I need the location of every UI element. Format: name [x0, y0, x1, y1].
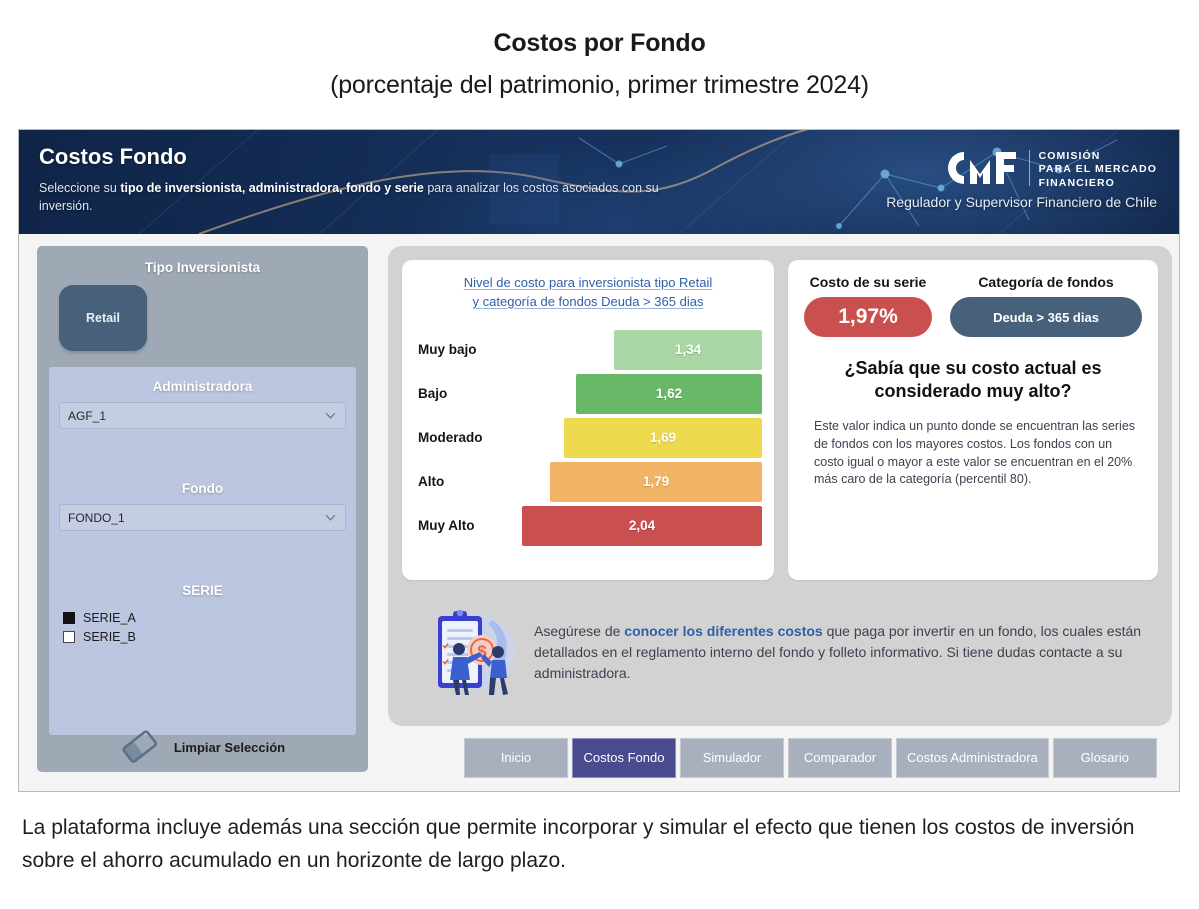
checkbox-icon[interactable] — [63, 631, 75, 643]
serie-checkbox-row[interactable]: SERIE_B — [63, 630, 346, 644]
tab-comparador[interactable]: Comparador — [788, 738, 892, 778]
clear-selection-label: Limpiar Selección — [174, 740, 285, 755]
result-question: ¿Sabía que su costo actual es considerad… — [810, 357, 1136, 402]
serie-label: SERIE_A — [83, 611, 136, 625]
category-badge-title: Categoría de fondos — [950, 274, 1142, 290]
fondo-heading: Fondo — [59, 477, 346, 504]
app-window: Costos Fondo Seleccione su tipo de inver… — [18, 129, 1180, 792]
investor-type-heading: Tipo Inversionista — [49, 256, 356, 283]
funnel-track: 1,62 — [522, 374, 762, 414]
logo-line-1: COMISIÓN — [1039, 150, 1157, 163]
logo-line-3: FINANCIERO — [1039, 177, 1157, 190]
funnel-track: 1,69 — [522, 418, 762, 458]
page-header: Costos por Fondo (porcentaje del patrimo… — [0, 0, 1199, 99]
main-content: Nivel de costo para inversionista tipo R… — [382, 234, 1180, 792]
funnel-category-label: Moderado — [414, 430, 522, 445]
administradora-select[interactable]: AGF_1 — [59, 402, 346, 429]
funnel-rows: Muy bajo 1,34 Bajo 1,62 — [414, 328, 762, 548]
funnel-track: 1,79 — [522, 462, 762, 502]
funnel-track: 2,04 — [522, 506, 762, 546]
app-header-subtitle: Seleccione su tipo de inversionista, adm… — [39, 179, 679, 215]
fondo-select[interactable]: FONDO_1 — [59, 504, 346, 531]
cost-badge-group: Costo de su serie 1,97% — [804, 274, 932, 337]
filter-spacer — [59, 531, 346, 579]
logo-tagline: Regulador y Supervisor Financiero de Chi… — [886, 194, 1157, 210]
funnel-title-line-1: Nivel de costo para inversionista tipo R… — [464, 275, 713, 290]
funnel-category-label: Alto — [414, 474, 522, 489]
administradora-heading: Administradora — [59, 375, 346, 402]
funnel-row: Muy Alto 2,04 — [414, 504, 762, 548]
banner-bold: conocer los diferentes costos — [624, 623, 822, 639]
app-header-title: Costos Fondo — [39, 144, 187, 170]
administradora-value: AGF_1 — [68, 409, 106, 423]
content-container: Nivel de costo para inversionista tipo R… — [388, 246, 1172, 726]
cost-value-badge: 1,97% — [804, 297, 932, 337]
logo-line-2: PARA EL MERCADO — [1039, 163, 1157, 176]
serie-label: SERIE_B — [83, 630, 136, 644]
page-title: Costos por Fondo — [0, 30, 1199, 58]
serie-checkbox-row[interactable]: SERIE_A — [63, 611, 346, 625]
page-subtitle: (porcentaje del patrimonio, primer trime… — [0, 72, 1199, 100]
advice-banner: $ Asegú — [402, 592, 1158, 712]
dropdown-filters-panel: Administradora AGF_1 Fondo FONDO_1 — [49, 367, 356, 735]
subtitle-bold: tipo de inversionista, administradora, f… — [120, 181, 424, 195]
funnel-bar: 1,69 — [564, 418, 762, 458]
cost-level-funnel-card: Nivel de costo para inversionista tipo R… — [402, 260, 774, 580]
funnel-bar: 1,62 — [576, 374, 762, 414]
funnel-bar: 2,04 — [522, 506, 762, 546]
tab-costos-fondo[interactable]: Costos Fondo — [572, 738, 676, 778]
logo-wordmark: COMISIÓN PARA EL MERCADO FINANCIERO — [1039, 148, 1157, 190]
filters-panel: Tipo Inversionista Retail Administradora… — [37, 246, 368, 772]
filters-sidebar: Tipo Inversionista Retail Administradora… — [19, 234, 382, 792]
fondo-value: FONDO_1 — [68, 511, 125, 525]
tab-inicio[interactable]: Inicio — [464, 738, 568, 778]
funnel-category-label: Muy Alto — [414, 518, 522, 533]
funnel-title-line-2: y categoría de fondos Deuda > 365 dias — [473, 294, 704, 309]
app-header-banner: Costos Fondo Seleccione su tipo de inver… — [19, 130, 1179, 234]
funnel-row: Alto 1,79 — [414, 460, 762, 504]
tab-costos-administradora[interactable]: Costos Administradora — [896, 738, 1049, 778]
chevron-down-icon — [324, 409, 337, 422]
cmf-logo-mark-icon — [944, 148, 1020, 188]
advice-banner-text: Asegúrese de conocer los diferentes cost… — [534, 621, 1142, 684]
clipboard-money-illustration-icon: $ — [420, 602, 520, 702]
tab-simulador[interactable]: Simulador — [680, 738, 784, 778]
funnel-track: 1,34 — [522, 330, 762, 370]
funnel-chart-title: Nivel de costo para inversionista tipo R… — [414, 274, 762, 312]
funnel-bar: 1,79 — [550, 462, 762, 502]
logo-divider — [1029, 150, 1030, 186]
funnel-row: Moderado 1,69 — [414, 416, 762, 460]
funnel-bar: 1,34 — [614, 330, 762, 370]
investor-type-retail-button[interactable]: Retail — [59, 285, 147, 351]
eraser-icon — [120, 730, 160, 764]
tab-glosario[interactable]: Glosario — [1053, 738, 1157, 778]
cost-badge-title: Costo de su serie — [804, 274, 932, 290]
category-value-badge: Deuda > 365 dias — [950, 297, 1142, 337]
funnel-row: Muy bajo 1,34 — [414, 328, 762, 372]
funnel-category-label: Muy bajo — [414, 342, 522, 357]
funnel-category-label: Bajo — [414, 386, 522, 401]
category-badge-group: Categoría de fondos Deuda > 365 dias — [950, 274, 1142, 337]
serie-heading: SERIE — [59, 579, 346, 606]
banner-prefix: Asegúrese de — [534, 623, 624, 639]
checkbox-icon[interactable] — [63, 612, 75, 624]
bottom-nav-tabs: Inicio Costos Fondo Simulador Comparador… — [388, 738, 1172, 778]
cost-result-card: Costo de su serie 1,97% Categoría de fon… — [788, 260, 1158, 580]
filter-spacer — [59, 429, 346, 477]
result-explanation: Este valor indica un punto donde se encu… — [814, 418, 1136, 489]
funnel-row: Bajo 1,62 — [414, 372, 762, 416]
clear-selection-button[interactable]: Limpiar Selección — [37, 730, 368, 764]
page-caption: La plataforma incluye además una sección… — [22, 812, 1152, 877]
cmf-logo: COMISIÓN PARA EL MERCADO FINANCIERO — [944, 148, 1157, 190]
app-body: Tipo Inversionista Retail Administradora… — [19, 234, 1179, 792]
subtitle-prefix: Seleccione su — [39, 181, 120, 195]
chevron-down-icon — [324, 511, 337, 524]
cards-row: Nivel de costo para inversionista tipo R… — [402, 260, 1158, 580]
result-badges: Costo de su serie 1,97% Categoría de fon… — [804, 274, 1142, 337]
